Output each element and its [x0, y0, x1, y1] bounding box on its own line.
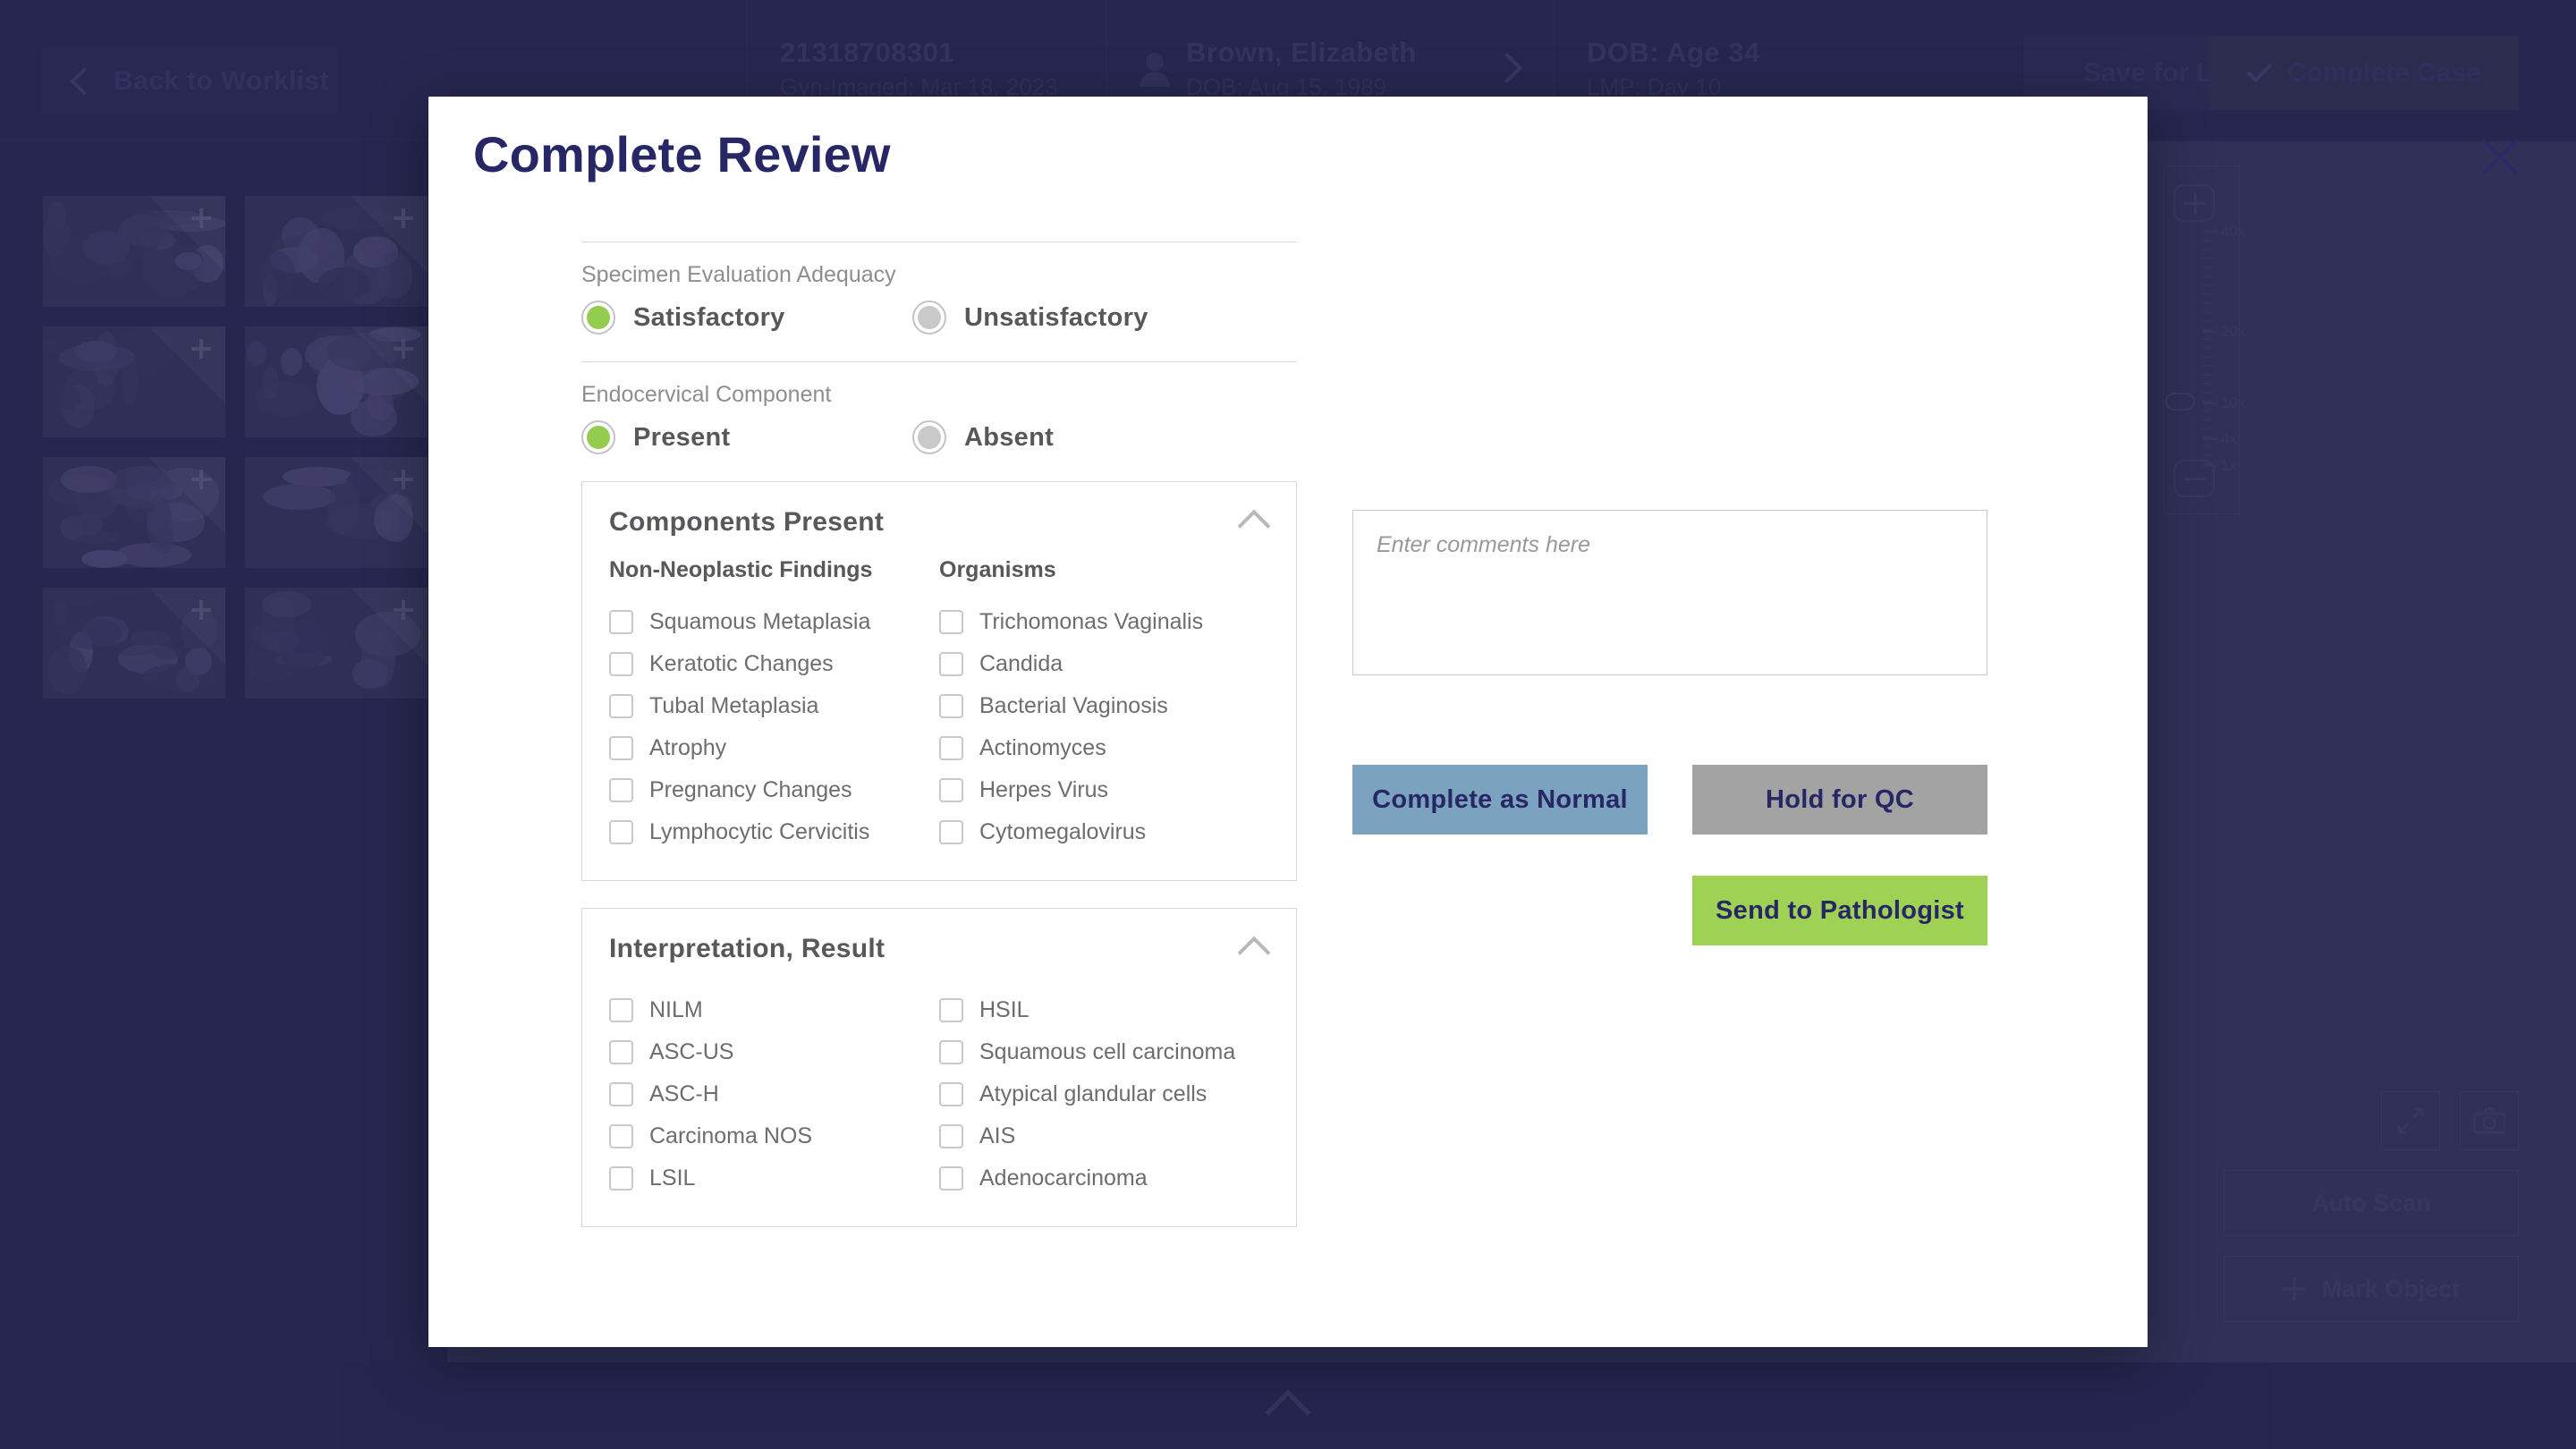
checkbox[interactable]: [939, 778, 963, 802]
checkbox-label: Adenocarcinoma: [979, 1165, 1148, 1191]
checkbox-row[interactable]: Atrophy: [609, 727, 939, 769]
panel-title: Components Present: [609, 507, 1269, 538]
checkbox-label: NILM: [649, 997, 703, 1023]
send-to-pathologist-button[interactable]: Send to Pathologist: [1692, 876, 1987, 945]
panel-title: Interpretation, Result: [609, 934, 1269, 964]
panel-column: OrganismsTrichomonas VaginalisCandidaBac…: [939, 557, 1269, 853]
checkbox[interactable]: [609, 1124, 633, 1148]
checkbox-row[interactable]: Carcinoma NOS: [609, 1115, 939, 1157]
checkbox-label: Actinomyces: [979, 735, 1106, 761]
checkbox[interactable]: [609, 1166, 633, 1191]
checkbox-label: Trichomonas Vaginalis: [979, 609, 1203, 635]
complete-as-normal-button[interactable]: Complete as Normal: [1352, 765, 1648, 835]
checkbox[interactable]: [609, 998, 633, 1022]
secondary-action-row: Send to Pathologist: [1352, 876, 1987, 945]
checkbox[interactable]: [609, 736, 633, 760]
checkbox-row[interactable]: Pregnancy Changes: [609, 769, 939, 811]
checkbox-row[interactable]: LSIL: [609, 1157, 939, 1199]
checkbox-row[interactable]: ASC-H: [609, 1073, 939, 1115]
radio-unsatisfactory[interactable]: Unsatisfactory: [912, 301, 1148, 335]
checkbox-row[interactable]: Squamous cell carcinoma: [939, 1031, 1269, 1073]
panel-columns: NILMASC-USASC-HCarcinoma NOSLSILHSILSqua…: [609, 989, 1269, 1199]
checkbox[interactable]: [609, 610, 633, 634]
panel-columns: Non-Neoplastic FindingsSquamous Metaplas…: [609, 557, 1269, 853]
panel-column: HSILSquamous cell carcinomaAtypical glan…: [939, 989, 1269, 1199]
checkbox[interactable]: [939, 1166, 963, 1191]
checkbox[interactable]: [939, 652, 963, 676]
checkbox-label: Herpes Virus: [979, 777, 1108, 803]
endocervical-radio-group[interactable]: Present Absent: [581, 420, 1297, 454]
checkbox-row[interactable]: Bacterial Vaginosis: [939, 685, 1269, 727]
checkbox-row[interactable]: Keratotic Changes: [609, 643, 939, 685]
radio-indicator: [912, 420, 946, 454]
radio-label: Present: [633, 423, 731, 453]
checkbox-row[interactable]: Lymphocytic Cervicitis: [609, 811, 939, 853]
radio-satisfactory[interactable]: Satisfactory: [581, 301, 912, 335]
checkbox-row[interactable]: HSIL: [939, 989, 1269, 1031]
panel-column: NILMASC-USASC-HCarcinoma NOSLSIL: [609, 989, 939, 1199]
checkbox-label: Bacterial Vaginosis: [979, 693, 1168, 719]
checkbox[interactable]: [609, 1040, 633, 1064]
checkbox-label: Tubal Metaplasia: [649, 693, 818, 719]
checkbox-label: ASC-H: [649, 1081, 719, 1107]
checkbox[interactable]: [939, 1124, 963, 1148]
checkbox[interactable]: [609, 694, 633, 718]
checkbox-label: Atypical glandular cells: [979, 1081, 1207, 1107]
checkbox[interactable]: [939, 610, 963, 634]
checkbox[interactable]: [939, 820, 963, 844]
checkbox[interactable]: [939, 998, 963, 1022]
checkbox[interactable]: [939, 1040, 963, 1064]
checkbox-row[interactable]: Candida: [939, 643, 1269, 685]
checkbox-row[interactable]: NILM: [609, 989, 939, 1031]
primary-action-row: Complete as Normal Hold for QC: [1352, 765, 1987, 835]
hold-for-qc-button[interactable]: Hold for QC: [1692, 765, 1987, 835]
radio-label: Absent: [964, 423, 1054, 453]
checkbox-row[interactable]: Trichomonas Vaginalis: [939, 601, 1269, 643]
checkbox-row[interactable]: Atypical glandular cells: [939, 1073, 1269, 1115]
checkbox-label: Cytomegalovirus: [979, 819, 1146, 845]
radio-label: Unsatisfactory: [964, 303, 1148, 333]
dialog-right-column: Complete as Normal Hold for QC Send to P…: [1352, 510, 1987, 945]
checkbox-row[interactable]: Herpes Virus: [939, 769, 1269, 811]
checkbox-label: Pregnancy Changes: [649, 777, 852, 803]
checkbox[interactable]: [609, 778, 633, 802]
radio-indicator: [581, 301, 615, 335]
checkbox[interactable]: [939, 1082, 963, 1106]
checkbox[interactable]: [939, 694, 963, 718]
components-present-panel: Components Present Non-Neoplastic Findin…: [581, 481, 1297, 881]
checkbox-label: Candida: [979, 651, 1063, 677]
radio-absent[interactable]: Absent: [912, 420, 1054, 454]
checkbox-row[interactable]: Actinomyces: [939, 727, 1269, 769]
checkbox-row[interactable]: AIS: [939, 1115, 1269, 1157]
panel-column: Non-Neoplastic FindingsSquamous Metaplas…: [609, 557, 939, 853]
checkbox-label: HSIL: [979, 997, 1030, 1023]
radio-indicator: [912, 301, 946, 335]
checkbox[interactable]: [609, 1082, 633, 1106]
checkbox-label: Squamous Metaplasia: [649, 609, 870, 635]
dialog-title: Complete Review: [473, 125, 891, 183]
adequacy-label: Specimen Evaluation Adequacy: [581, 262, 1297, 288]
dialog-left-column: Specimen Evaluation Adequacy Satisfactor…: [581, 241, 1297, 1227]
column-heading: Non-Neoplastic Findings: [609, 557, 939, 583]
checkbox-label: ASC-US: [649, 1039, 733, 1065]
adequacy-radio-group[interactable]: Satisfactory Unsatisfactory: [581, 301, 1297, 335]
checkbox-label: Carcinoma NOS: [649, 1123, 812, 1149]
checkbox[interactable]: [609, 652, 633, 676]
checkbox-row[interactable]: Squamous Metaplasia: [609, 601, 939, 643]
checkbox-row[interactable]: Tubal Metaplasia: [609, 685, 939, 727]
checkbox-label: Atrophy: [649, 735, 726, 761]
checkbox[interactable]: [609, 820, 633, 844]
divider: [581, 241, 1297, 242]
close-icon[interactable]: [2476, 132, 2524, 181]
interpretation-result-panel: Interpretation, Result NILMASC-USASC-HCa…: [581, 908, 1297, 1227]
divider: [581, 361, 1297, 362]
radio-label: Satisfactory: [633, 303, 785, 333]
checkbox-row[interactable]: ASC-US: [609, 1031, 939, 1073]
endocervical-label: Endocervical Component: [581, 382, 1297, 408]
radio-indicator: [581, 420, 615, 454]
comments-input[interactable]: [1352, 510, 1987, 675]
radio-present[interactable]: Present: [581, 420, 912, 454]
checkbox-label: LSIL: [649, 1165, 695, 1191]
column-heading: Organisms: [939, 557, 1269, 583]
checkbox-row[interactable]: Adenocarcinoma: [939, 1157, 1269, 1199]
checkbox-label: Lymphocytic Cervicitis: [649, 819, 869, 845]
checkbox-label: Keratotic Changes: [649, 651, 834, 677]
checkbox[interactable]: [939, 736, 963, 760]
checkbox-label: AIS: [979, 1123, 1015, 1149]
checkbox-row[interactable]: Cytomegalovirus: [939, 811, 1269, 853]
checkbox-label: Squamous cell carcinoma: [979, 1039, 1235, 1065]
